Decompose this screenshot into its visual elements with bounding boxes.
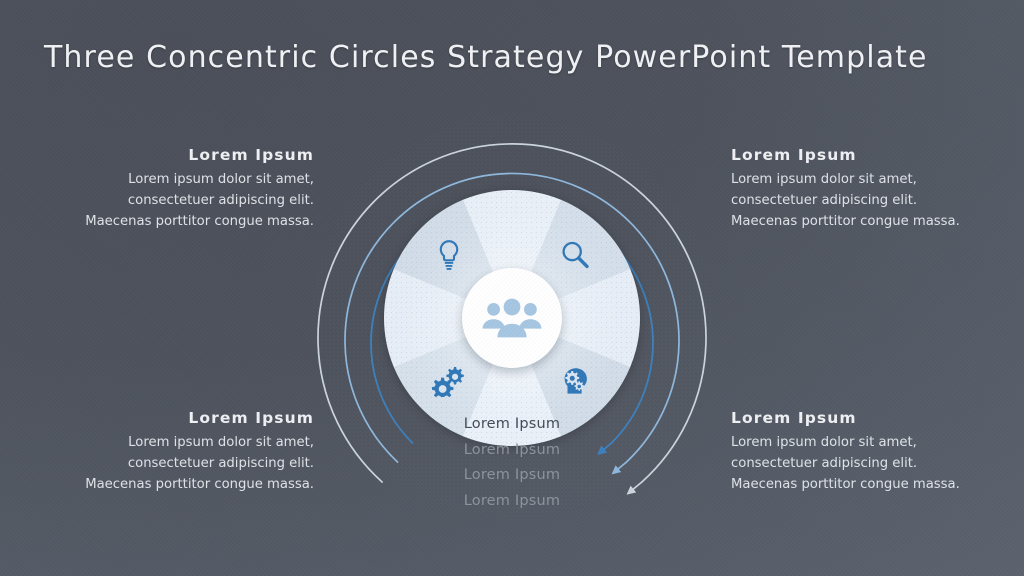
text-block-heading: Lorem Ipsum	[78, 409, 314, 428]
legend-item[interactable]: Lorem Ipsum	[382, 489, 642, 515]
text-block-heading: Lorem Ipsum	[78, 146, 314, 165]
text-block-heading: Lorem Ipsum	[731, 409, 967, 428]
text-block-body: Lorem ipsum dolor sit amet, consectetuer…	[731, 432, 967, 496]
text-block-body: Lorem ipsum dolor sit amet, consectetuer…	[78, 169, 314, 233]
legend-item[interactable]: Lorem Ipsum	[382, 438, 642, 464]
text-block-top-left: Lorem Ipsum Lorem ipsum dolor sit amet, …	[78, 146, 314, 233]
people-group-icon[interactable]	[462, 268, 562, 368]
legend-list: Lorem Ipsum Lorem Ipsum Lorem Ipsum Lore…	[382, 412, 642, 514]
page-title: Three Concentric Circles Strategy PowerP…	[44, 40, 944, 75]
legend-item[interactable]: Lorem Ipsum	[382, 463, 642, 489]
text-block-body: Lorem ipsum dolor sit amet, consectetuer…	[731, 169, 967, 233]
slide-canvas: Three Concentric Circles Strategy PowerP…	[0, 0, 1024, 576]
text-block-top-right: Lorem Ipsum Lorem ipsum dolor sit amet, …	[731, 146, 967, 233]
text-block-bottom-right: Lorem Ipsum Lorem ipsum dolor sit amet, …	[731, 409, 967, 496]
legend-item[interactable]: Lorem Ipsum	[382, 412, 642, 438]
text-block-heading: Lorem Ipsum	[731, 146, 967, 165]
text-block-body: Lorem ipsum dolor sit amet, consectetuer…	[78, 432, 314, 496]
text-block-bottom-left: Lorem Ipsum Lorem ipsum dolor sit amet, …	[78, 409, 314, 496]
